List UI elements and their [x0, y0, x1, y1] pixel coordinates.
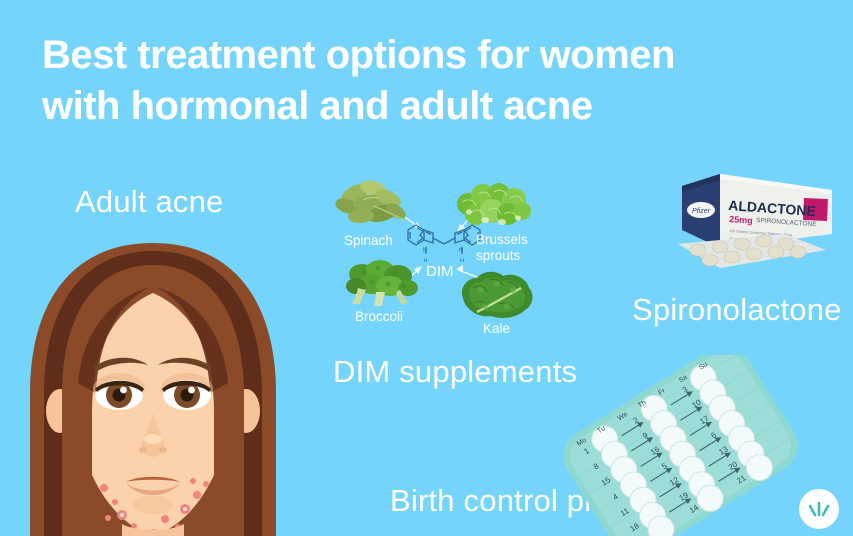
svg-text:H: H	[460, 258, 464, 264]
page-title: Best treatment options for women with ho…	[42, 30, 802, 132]
title-line-2: with hormonal and adult acne	[42, 81, 802, 132]
brussels-sprouts-image	[452, 178, 534, 234]
label-broccoli: Broccoli	[355, 309, 403, 325]
aldactone-strength-text: 25mg	[729, 214, 753, 226]
label-brussels-sprouts: Brussels sprouts	[476, 232, 528, 264]
woman-face-illustration	[18, 243, 288, 536]
svg-text:N: N	[459, 248, 463, 254]
infographic-canvas: Best treatment options for women with ho…	[0, 0, 853, 536]
label-kale: Kale	[483, 321, 510, 337]
svg-text:N: N	[423, 248, 427, 254]
label-spironolactone: Spironolactone	[632, 292, 842, 328]
birth-control-blister-pack: 1 2 3 8 9 10 15 16 17 4 5 6 11 12 13 18	[530, 355, 830, 536]
kale-image	[455, 268, 537, 324]
label-brussels-sprouts-line-1: Brussels	[476, 232, 528, 248]
title-line-1: Best treatment options for women	[42, 30, 802, 81]
spinach-image	[333, 176, 413, 232]
label-brussels-sprouts-line-2: sprouts	[476, 248, 528, 264]
aldactone-package: Pfizer ALDACTONE 25mg SPIRONOLACTONE 100…	[676, 168, 836, 286]
label-spinach: Spinach	[344, 233, 393, 249]
sprout-logo	[799, 489, 839, 529]
broccoli-image	[342, 258, 422, 310]
aldactone-blister-strip	[678, 234, 826, 268]
label-adult-acne: Adult acne	[75, 184, 224, 220]
label-dim: DIM	[426, 264, 454, 280]
pfizer-logo-text: Pfizer	[692, 208, 711, 215]
